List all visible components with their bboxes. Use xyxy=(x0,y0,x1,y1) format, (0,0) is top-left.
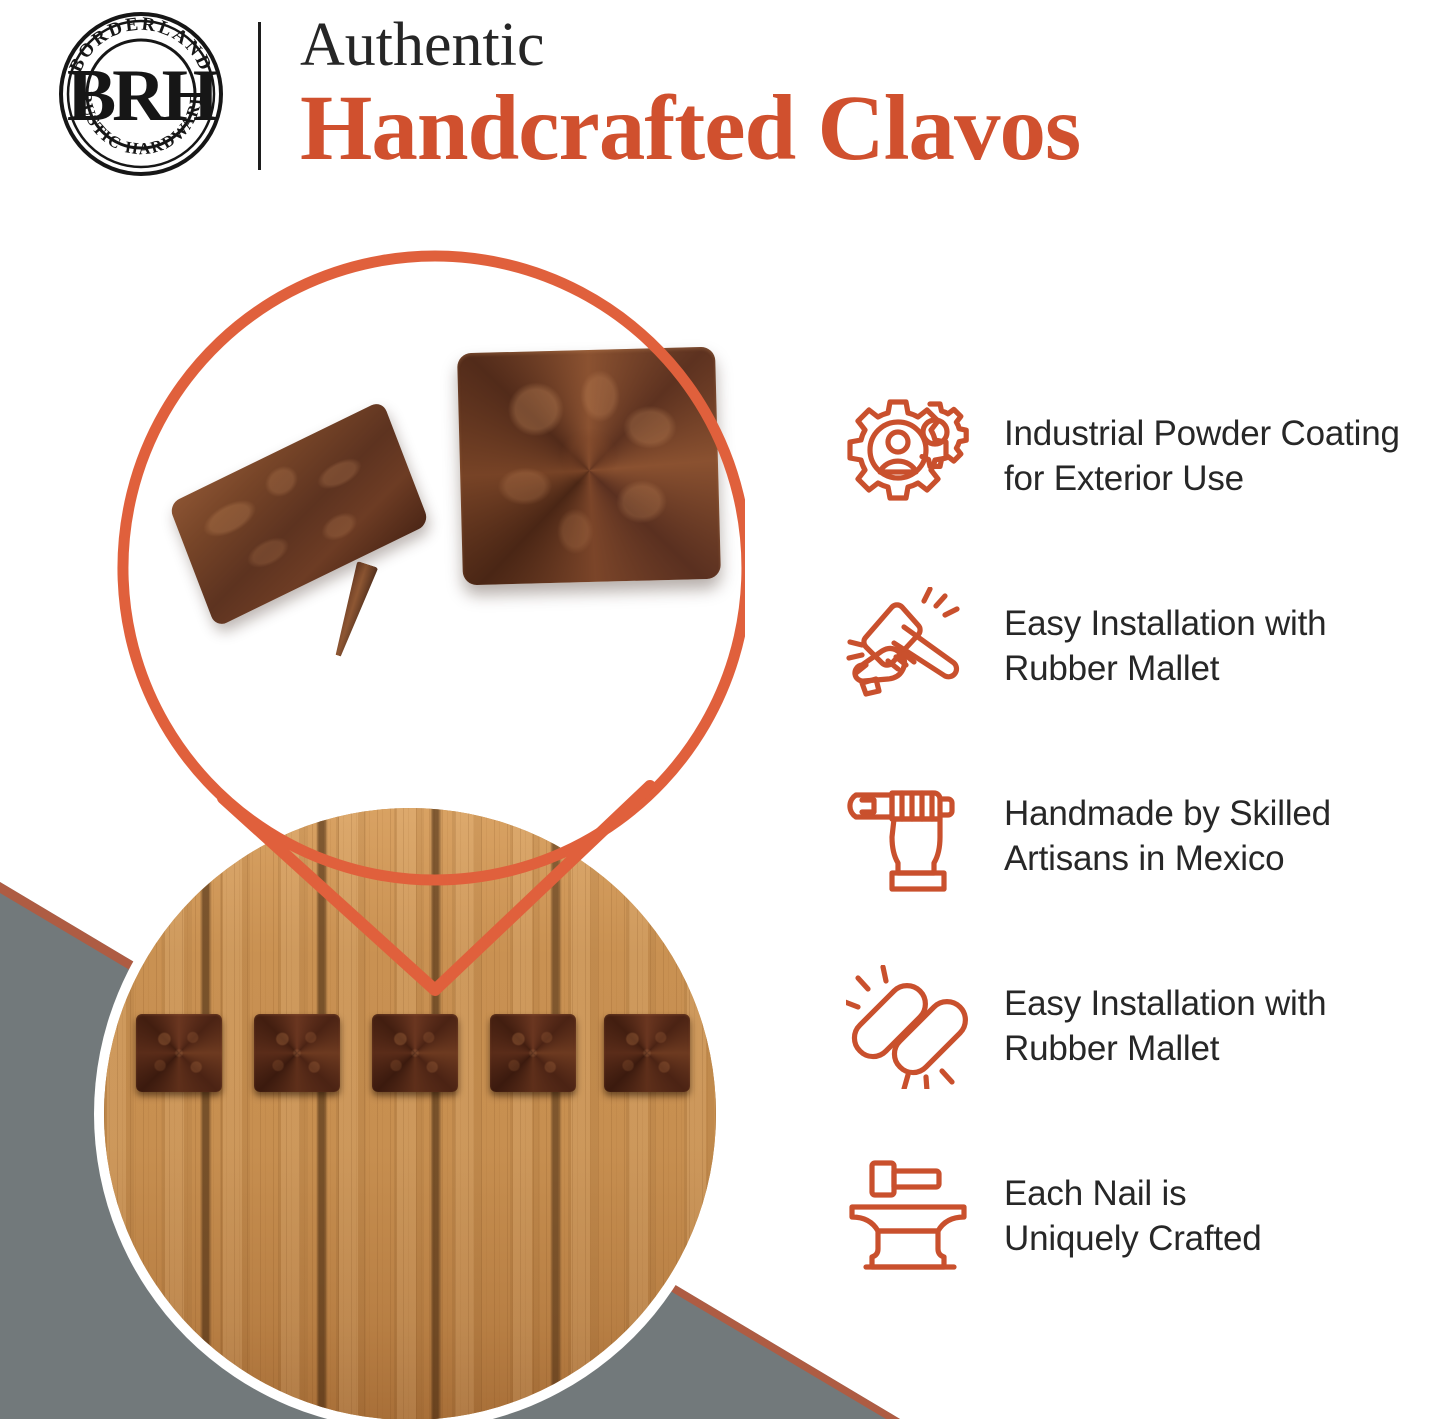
brand-logo: BORDERLAND RUSTIC HARDWARE BRH xyxy=(55,8,227,180)
installed-clavo xyxy=(604,1014,690,1092)
installed-clavo xyxy=(372,1014,458,1092)
feature-label: Easy Installation with Rubber Mallet xyxy=(980,982,1445,1072)
feature-label-line1: Easy Installation with xyxy=(1004,602,1445,647)
gears-person-icon xyxy=(840,392,980,522)
feature-row: Easy Installation with Rubber Mallet xyxy=(840,932,1445,1122)
feature-label: Easy Installation with Rubber Mallet xyxy=(980,602,1445,692)
feature-label: Handmade by Skilled Artisans in Mexico xyxy=(980,792,1445,882)
logo-monogram: BRH xyxy=(67,55,219,137)
title-block: Authentic Handcrafted Clavos xyxy=(300,0,1430,175)
feature-label-line2: Rubber Mallet xyxy=(1004,647,1445,692)
door-photo-circle xyxy=(104,808,716,1419)
page-header: BORDERLAND RUSTIC HARDWARE BRH Authentic… xyxy=(0,0,1445,196)
page-title-line2: Handcrafted Clavos xyxy=(300,82,1430,175)
feature-label: Industrial Powder Coating for Exterior U… xyxy=(980,412,1445,502)
feature-label-line1: Handmade by Skilled xyxy=(1004,792,1445,837)
feature-label-line1: Each Nail is xyxy=(1004,1172,1445,1217)
brand-seal-icon: BORDERLAND RUSTIC HARDWARE BRH xyxy=(55,8,227,180)
feature-label-line1: Industrial Powder Coating xyxy=(1004,412,1445,457)
feature-row: Handmade by Skilled Artisans in Mexico xyxy=(840,742,1445,932)
feature-row: Each Nail is Uniquely Crafted xyxy=(840,1122,1445,1312)
feature-label-line1: Easy Installation with xyxy=(1004,982,1445,1027)
fist-wrench-icon xyxy=(840,772,980,902)
anvil-hammer-icon xyxy=(840,1152,980,1282)
clavo-shank xyxy=(328,561,379,659)
hand-mallet-icon xyxy=(840,582,980,712)
feature-list: Industrial Powder Coating for Exterior U… xyxy=(840,362,1445,1312)
clavo-angled-view xyxy=(168,400,429,628)
installed-clavo xyxy=(136,1014,222,1092)
feature-label-line2: for Exterior Use xyxy=(1004,457,1445,502)
feature-label-line2: Uniquely Crafted xyxy=(1004,1217,1445,1262)
product-photo-clavos xyxy=(160,330,690,720)
clavo-front-view xyxy=(457,347,721,586)
wood-plank-background xyxy=(104,808,716,1419)
feature-label: Each Nail is Uniquely Crafted xyxy=(980,1172,1445,1262)
infographic-page: BORDERLAND RUSTIC HARDWARE BRH Authentic… xyxy=(0,0,1445,1419)
feature-label-line2: Rubber Mallet xyxy=(1004,1027,1445,1072)
page-title-line1: Authentic xyxy=(300,14,1430,76)
installed-clavo xyxy=(254,1014,340,1092)
feature-row: Industrial Powder Coating for Exterior U… xyxy=(840,362,1445,552)
header-divider xyxy=(258,22,261,170)
installed-clavo xyxy=(490,1014,576,1092)
feature-label-line2: Artisans in Mexico xyxy=(1004,837,1445,882)
chain-link-icon xyxy=(840,962,980,1092)
feature-row: Easy Installation with Rubber Mallet xyxy=(840,552,1445,742)
